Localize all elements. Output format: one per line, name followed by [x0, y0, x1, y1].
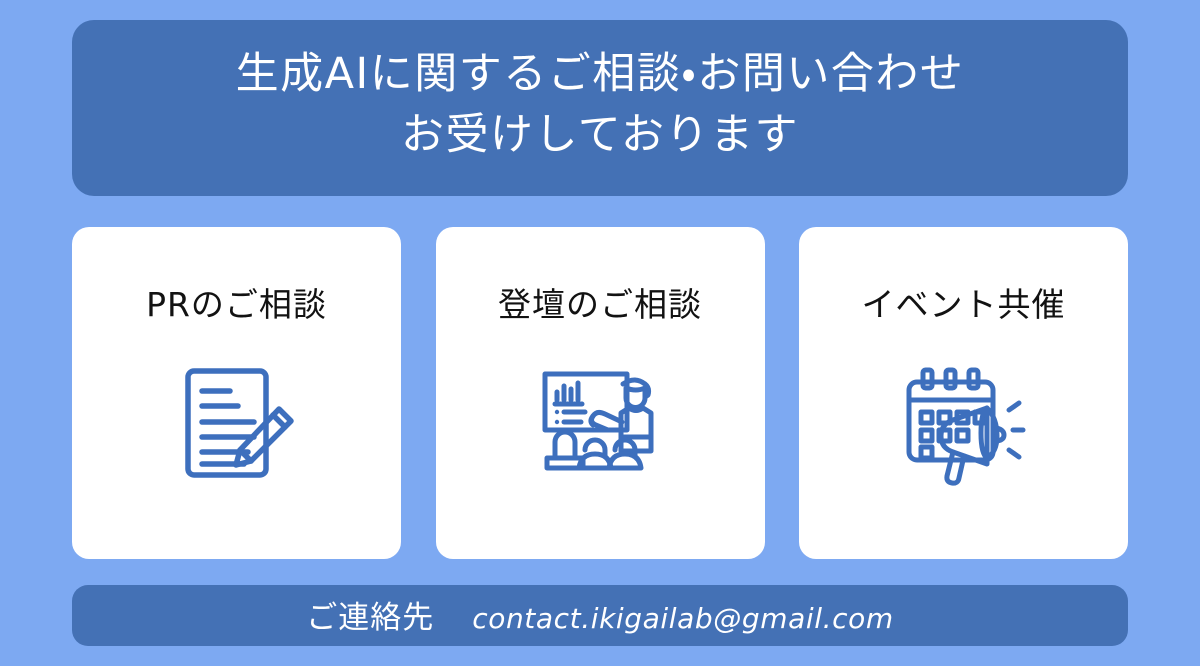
footer-contact-inner: ご連絡先 contact.ikigailab@gmail.com — [306, 592, 894, 637]
service-card-pr[interactable]: PRのご相談 — [72, 227, 401, 559]
document-pencil-icon — [171, 359, 303, 491]
service-card-list: PRのご相談 登壇のご相談 — [72, 227, 1128, 559]
contact-slide: 生成AIに関するご相談・お問い合わせ お受けしております PRのご相談 — [0, 0, 1200, 666]
service-card-event[interactable]: イベント共催 — [799, 227, 1128, 559]
service-card-title: イベント共催 — [862, 285, 1066, 325]
contact-email[interactable]: contact.ikigailab@gmail.com — [472, 602, 894, 635]
presentation-speaker-icon — [534, 359, 666, 491]
calendar-megaphone-icon — [898, 359, 1030, 491]
footer-contact-bar: ご連絡先 contact.ikigailab@gmail.com — [72, 585, 1128, 646]
service-card-title: 登壇のご相談 — [498, 285, 702, 325]
header-title-line-1: 生成AIに関するご相談・お問い合わせ — [236, 44, 965, 105]
header-banner: 生成AIに関するご相談・お問い合わせ お受けしております — [72, 20, 1128, 196]
header-title-line-2: お受けしております — [401, 105, 799, 166]
service-card-title: PRのご相談 — [146, 285, 327, 325]
service-card-speaking[interactable]: 登壇のご相談 — [436, 227, 765, 559]
contact-label: ご連絡先 — [306, 592, 434, 637]
